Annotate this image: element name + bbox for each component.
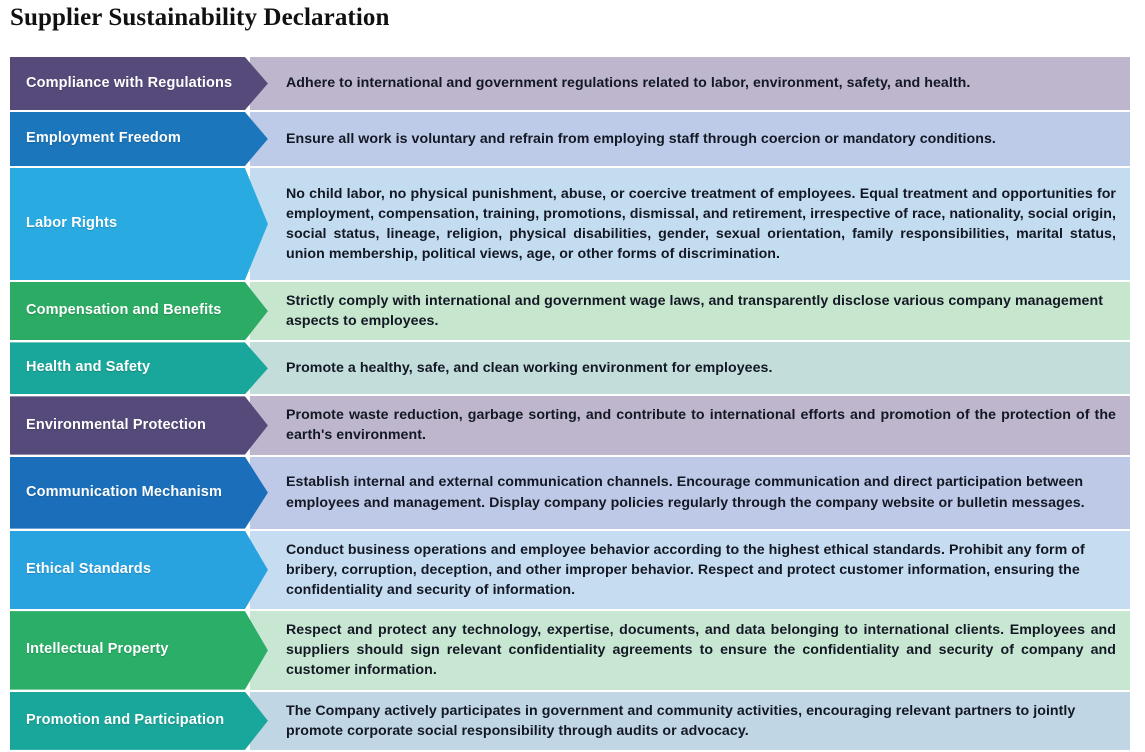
category-label-text: Communication Mechanism bbox=[26, 484, 222, 502]
declaration-row: Health and SafetyPromote a healthy, safe… bbox=[10, 342, 1130, 394]
category-description-panel: Respect and protect any technology, expe… bbox=[250, 611, 1130, 689]
declaration-row: Promotion and ParticipationThe Company a… bbox=[10, 692, 1130, 750]
category-description-text: No child labor, no physical punishment, … bbox=[286, 184, 1116, 265]
declaration-row: Employment FreedomEnsure all work is vol… bbox=[10, 112, 1130, 166]
category-label-chevron[interactable]: Compliance with Regulations bbox=[10, 57, 268, 110]
declaration-row: Communication MechanismEstablish interna… bbox=[10, 457, 1130, 529]
category-label-chevron[interactable]: Employment Freedom bbox=[10, 112, 268, 166]
category-label-text: Intellectual Property bbox=[26, 641, 169, 659]
category-description-text: Respect and protect any technology, expe… bbox=[286, 620, 1116, 680]
declaration-row: Labor RightsNo child labor, no physical … bbox=[10, 168, 1130, 280]
category-description-panel: Strictly comply with international and g… bbox=[250, 282, 1130, 340]
category-label-text: Environmental Protection bbox=[26, 417, 206, 435]
category-description-panel: Establish internal and external communic… bbox=[250, 457, 1130, 529]
supplier-sustainability-declaration-page: Supplier Sustainability Declaration Comp… bbox=[0, 0, 1145, 725]
category-description-text: Conduct business operations and employee… bbox=[286, 540, 1116, 600]
category-description-panel: Conduct business operations and employee… bbox=[250, 531, 1130, 609]
category-label-text: Ethical Standards bbox=[26, 561, 151, 579]
category-label-text: Labor Rights bbox=[26, 215, 117, 233]
category-description-panel: Ensure all work is voluntary and refrain… bbox=[250, 112, 1130, 166]
category-label-chevron[interactable]: Environmental Protection bbox=[10, 396, 268, 454]
category-label-chevron[interactable]: Labor Rights bbox=[10, 168, 268, 280]
category-description-text: Promote a healthy, safe, and clean worki… bbox=[286, 358, 772, 378]
category-label-chevron[interactable]: Compensation and Benefits bbox=[10, 282, 268, 340]
category-description-panel: Promote a healthy, safe, and clean worki… bbox=[250, 342, 1130, 394]
category-description-text: The Company actively participates in gov… bbox=[286, 701, 1116, 741]
declaration-row: Ethical StandardsConduct business operat… bbox=[10, 531, 1130, 609]
category-description-panel: The Company actively participates in gov… bbox=[250, 692, 1130, 750]
category-description-panel: No child labor, no physical punishment, … bbox=[250, 168, 1130, 280]
declaration-row: Compliance with RegulationsAdhere to int… bbox=[10, 57, 1130, 110]
category-description-text: Strictly comply with international and g… bbox=[286, 291, 1116, 331]
category-description-panel: Promote waste reduction, garbage sorting… bbox=[250, 396, 1130, 454]
category-label-text: Health and Safety bbox=[26, 359, 150, 377]
category-label-text: Compliance with Regulations bbox=[26, 75, 232, 93]
category-label-chevron[interactable]: Communication Mechanism bbox=[10, 457, 268, 529]
category-description-text: Ensure all work is voluntary and refrain… bbox=[286, 129, 996, 149]
category-description-text: Promote waste reduction, garbage sorting… bbox=[286, 405, 1116, 445]
category-description-panel: Adhere to international and government r… bbox=[250, 57, 1130, 110]
declaration-table: Compliance with RegulationsAdhere to int… bbox=[10, 57, 1130, 752]
declaration-row: Compensation and BenefitsStrictly comply… bbox=[10, 282, 1130, 340]
declaration-row: Intellectual PropertyRespect and protect… bbox=[10, 611, 1130, 689]
category-label-text: Promotion and Participation bbox=[26, 712, 224, 730]
category-label-text: Compensation and Benefits bbox=[26, 302, 222, 320]
category-label-chevron[interactable]: Promotion and Participation bbox=[10, 692, 268, 750]
category-description-text: Adhere to international and government r… bbox=[286, 73, 970, 93]
declaration-row: Environmental ProtectionPromote waste re… bbox=[10, 396, 1130, 454]
category-label-text: Employment Freedom bbox=[26, 130, 181, 148]
category-label-chevron[interactable]: Ethical Standards bbox=[10, 531, 268, 609]
category-description-text: Establish internal and external communic… bbox=[286, 472, 1116, 512]
category-label-chevron[interactable]: Health and Safety bbox=[10, 342, 268, 394]
category-label-chevron[interactable]: Intellectual Property bbox=[10, 611, 268, 689]
page-title: Supplier Sustainability Declaration bbox=[10, 4, 390, 32]
